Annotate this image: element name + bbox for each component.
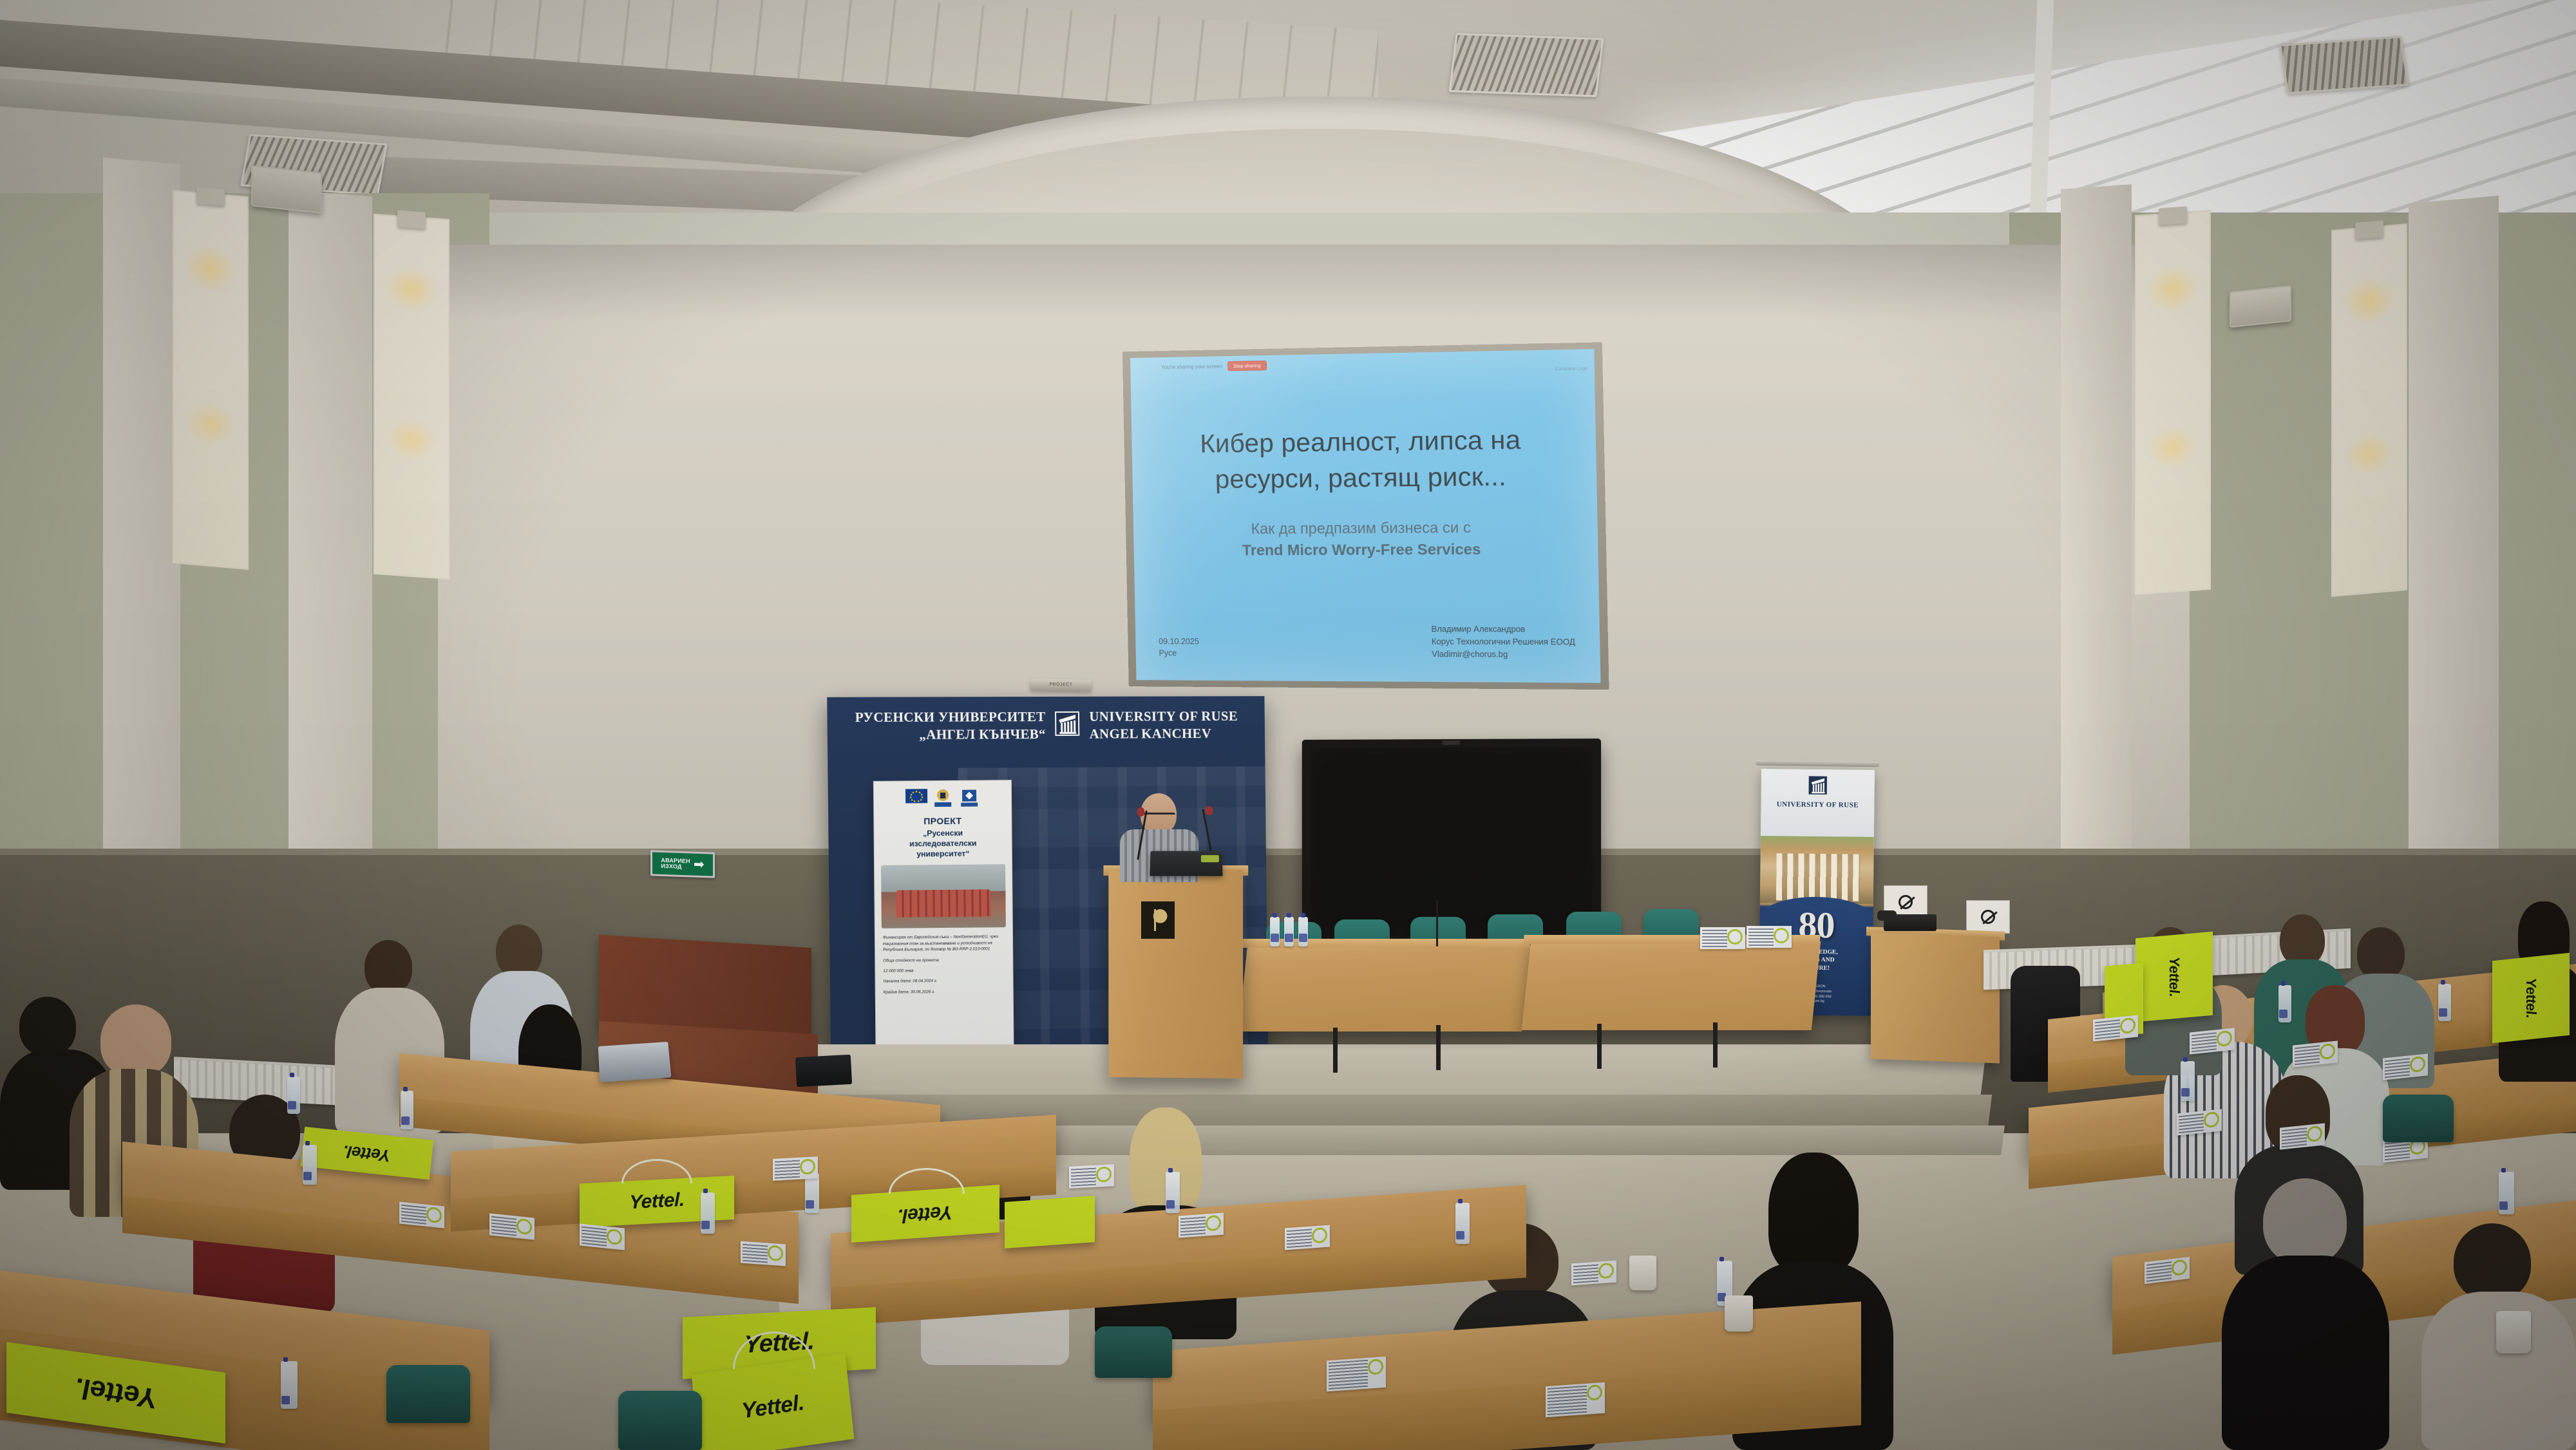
wall-pilaster bbox=[2409, 196, 2499, 899]
wall-display-screen bbox=[1302, 739, 1601, 946]
person-head bbox=[2263, 1178, 2347, 1265]
banner-english-name: UNIVERSITY OF RUSE ANGEL KANCHEV bbox=[1089, 708, 1238, 742]
poster-logo-row bbox=[874, 780, 1011, 813]
poster-heading: ПРОЕКТ bbox=[874, 815, 1011, 827]
ministry-logo-icon bbox=[958, 789, 980, 808]
presidium-table bbox=[1238, 945, 1531, 1031]
water-bottle bbox=[1284, 917, 1294, 946]
wall-light-panel bbox=[173, 190, 249, 570]
air-vent-icon bbox=[2279, 36, 2409, 95]
poster-total-value: 12 000 000 лева bbox=[883, 967, 1005, 974]
wall-pilaster bbox=[103, 158, 180, 892]
bag-brand-label: Yettel. bbox=[629, 1189, 684, 1214]
presidium-table-top bbox=[1240, 939, 1530, 948]
anniversary-banner-title: UNIVERSITY OF RUSE bbox=[1777, 800, 1859, 809]
wall-shadow bbox=[438, 245, 2190, 322]
water-bottle bbox=[2278, 985, 2291, 1022]
wall-speaker-icon bbox=[2230, 285, 2291, 328]
handout-flyer bbox=[399, 1201, 444, 1228]
exit-sign-line2: ИЗХОД bbox=[661, 863, 690, 871]
water-bottle bbox=[287, 1077, 300, 1114]
handout-flyer bbox=[1700, 927, 1745, 949]
speaker-podium bbox=[1108, 870, 1243, 1078]
poster-quote: „Русенски изследователски университет“ bbox=[875, 827, 1012, 860]
university-logo-icon bbox=[1054, 711, 1080, 740]
banner-bulgarian-name: РУСЕНСКИ УНИВЕРСИТЕТ „АНГЕЛ КЪНЧЕВ“ bbox=[855, 708, 1045, 744]
audience-chair bbox=[386, 1365, 470, 1423]
person-body bbox=[2222, 1256, 2389, 1450]
person-head bbox=[2357, 927, 2405, 980]
handout-flyer bbox=[1069, 1164, 1114, 1189]
handout-flyer bbox=[489, 1213, 535, 1239]
water-bottle bbox=[2438, 984, 2451, 1021]
presidium-table bbox=[1522, 941, 1821, 1030]
handout-flyer bbox=[580, 1223, 625, 1250]
microphone-head-icon bbox=[1206, 806, 1213, 815]
banner-header: РУСЕНСКИ УНИВЕРСИТЕТ „АНГЕЛ КЪНЧЕВ“ UNIV… bbox=[827, 708, 1265, 744]
lecture-hall-photo: АВАРИЕН ИЗХОД ➡ You're sharing your scre… bbox=[0, 0, 2576, 1450]
water-bottle bbox=[1270, 917, 1280, 946]
water-bottle bbox=[281, 1361, 298, 1409]
desk-phone-icon bbox=[1884, 914, 1937, 931]
bag-brand-label: Yettel. bbox=[2166, 956, 2183, 997]
poster-building-photo bbox=[881, 864, 1006, 928]
stage-platform bbox=[757, 1044, 1987, 1100]
poster-funding-text: Финансиран от Европейския съюз – NextGen… bbox=[883, 934, 1005, 953]
projector-device: PROJECT bbox=[1030, 679, 1092, 692]
water-bottle bbox=[401, 1091, 413, 1129]
sponsor-gift-bag: Yettel. bbox=[2492, 953, 2570, 1044]
handout-flyer bbox=[1179, 1213, 1224, 1238]
handout-flyer bbox=[741, 1241, 786, 1266]
poster-quote-line1: „Русенски bbox=[880, 827, 1007, 839]
table-leg bbox=[1597, 1024, 1602, 1069]
wall-sconce-icon bbox=[2159, 206, 2187, 225]
wall-pilaster bbox=[2061, 184, 2132, 898]
banner-en-line1: UNIVERSITY OF RUSE bbox=[1089, 708, 1238, 726]
person-head bbox=[1768, 1153, 1859, 1275]
projection-screen: You're sharing your screen Stop sharing … bbox=[1130, 349, 1600, 683]
person-head bbox=[2280, 914, 2325, 966]
table-leg bbox=[1713, 1022, 1718, 1068]
podium-emblem-icon bbox=[1141, 901, 1175, 939]
handout-flyer bbox=[1327, 1357, 1386, 1391]
emergency-exit-sign: АВАРИЕН ИЗХОД ➡ bbox=[650, 850, 715, 878]
poster-quote-line3: университет“ bbox=[880, 848, 1007, 860]
banner-en-line2: ANGEL KANCHEV bbox=[1089, 725, 1238, 743]
audience-laptop bbox=[598, 1042, 672, 1082]
audience-laptop bbox=[795, 1055, 852, 1087]
microphone-head-icon bbox=[1137, 807, 1144, 816]
banner-bg-line1: РУСЕНСКИ УНИВЕРСИТЕТ bbox=[855, 708, 1045, 726]
audience-chair bbox=[2383, 1095, 2454, 1142]
banner-bg-line2: „АНГЕЛ КЪНЧЕВ“ bbox=[855, 726, 1046, 744]
water-bottle bbox=[701, 1192, 715, 1234]
handout-flyer bbox=[1571, 1261, 1616, 1286]
wall-sconce-icon bbox=[196, 187, 225, 206]
handout-flyer bbox=[1546, 1382, 1605, 1417]
audience-chair bbox=[618, 1391, 702, 1450]
sponsor-gift-bag: Yettel. bbox=[2136, 932, 2213, 1022]
coffee-cup bbox=[1629, 1256, 1656, 1290]
poster-start-date: Начална дата: 08.04.2024 г. bbox=[884, 978, 1005, 985]
coffee-cup bbox=[1725, 1295, 1753, 1332]
water-bottle bbox=[1298, 917, 1308, 946]
air-vent-icon bbox=[1448, 33, 1604, 97]
table-microphone bbox=[1436, 900, 1438, 946]
wall-sconce-icon bbox=[2355, 220, 2383, 240]
slide-surface: You're sharing your screen Stop sharing … bbox=[1130, 349, 1600, 683]
table-leg bbox=[1436, 1025, 1441, 1070]
right-arrow-icon: ➡ bbox=[694, 858, 705, 872]
person-head bbox=[19, 997, 76, 1056]
water-bottle bbox=[805, 1173, 819, 1213]
person-head bbox=[100, 1004, 171, 1077]
water-bottle bbox=[1455, 1203, 1470, 1244]
person-head bbox=[496, 925, 542, 977]
wall-speaker-icon bbox=[251, 165, 322, 214]
bag-brand-label: Yettel. bbox=[343, 1141, 392, 1165]
university-logo-icon bbox=[1807, 775, 1829, 798]
water-bottle bbox=[2499, 1172, 2514, 1214]
audience-person bbox=[2222, 1178, 2389, 1450]
wall-light-panel bbox=[2135, 210, 2211, 595]
person-head bbox=[2454, 1223, 2531, 1301]
anniversary-banner-photo bbox=[1760, 836, 1874, 904]
screen-glare bbox=[1130, 349, 1600, 683]
handout-flyer bbox=[1285, 1225, 1330, 1250]
water-bottle bbox=[303, 1145, 317, 1185]
water-bottle bbox=[1166, 1172, 1180, 1213]
side-cabinet bbox=[1871, 933, 2000, 1064]
wall-pilaster bbox=[289, 190, 372, 892]
person-head bbox=[365, 940, 412, 994]
bag-brand-label: Yettel. bbox=[741, 1390, 806, 1424]
dado-trim bbox=[0, 849, 2576, 855]
handout-flyer bbox=[1747, 926, 1792, 948]
presenter-laptop bbox=[1150, 851, 1222, 876]
water-bottle bbox=[2181, 1061, 2195, 1101]
wall-light-panel bbox=[2331, 223, 2407, 597]
bag-brand-label: Yettel. bbox=[2523, 977, 2539, 1019]
audience-chair bbox=[1095, 1326, 1172, 1378]
table-leg bbox=[1333, 1028, 1338, 1073]
eu-flag-icon bbox=[905, 789, 927, 808]
sponsor-gift-bag bbox=[1005, 1196, 1095, 1248]
poster-total-label: Обща стойност на проекта: bbox=[883, 957, 1005, 964]
bag-brand-label: Yettel. bbox=[75, 1371, 157, 1415]
no-smoking-sign bbox=[1966, 900, 2010, 934]
wall-light-panel bbox=[374, 214, 450, 579]
poster-quote-line2: изследователски bbox=[880, 838, 1007, 849]
anniversary-banner-top: UNIVERSITY OF RUSE bbox=[1761, 769, 1875, 840]
university-seal-icon bbox=[931, 789, 953, 808]
poster-text-block: Финансиран от Европейския съюз – NextGen… bbox=[875, 927, 1013, 995]
wall-sconce-icon bbox=[397, 210, 426, 229]
poster-end-date: Крайна дата: 30.06.2026 г. bbox=[884, 988, 1005, 995]
bag-brand-label: Yettel. bbox=[898, 1201, 952, 1227]
handout-flyer bbox=[773, 1156, 818, 1181]
coffee-cup bbox=[2496, 1311, 2531, 1353]
